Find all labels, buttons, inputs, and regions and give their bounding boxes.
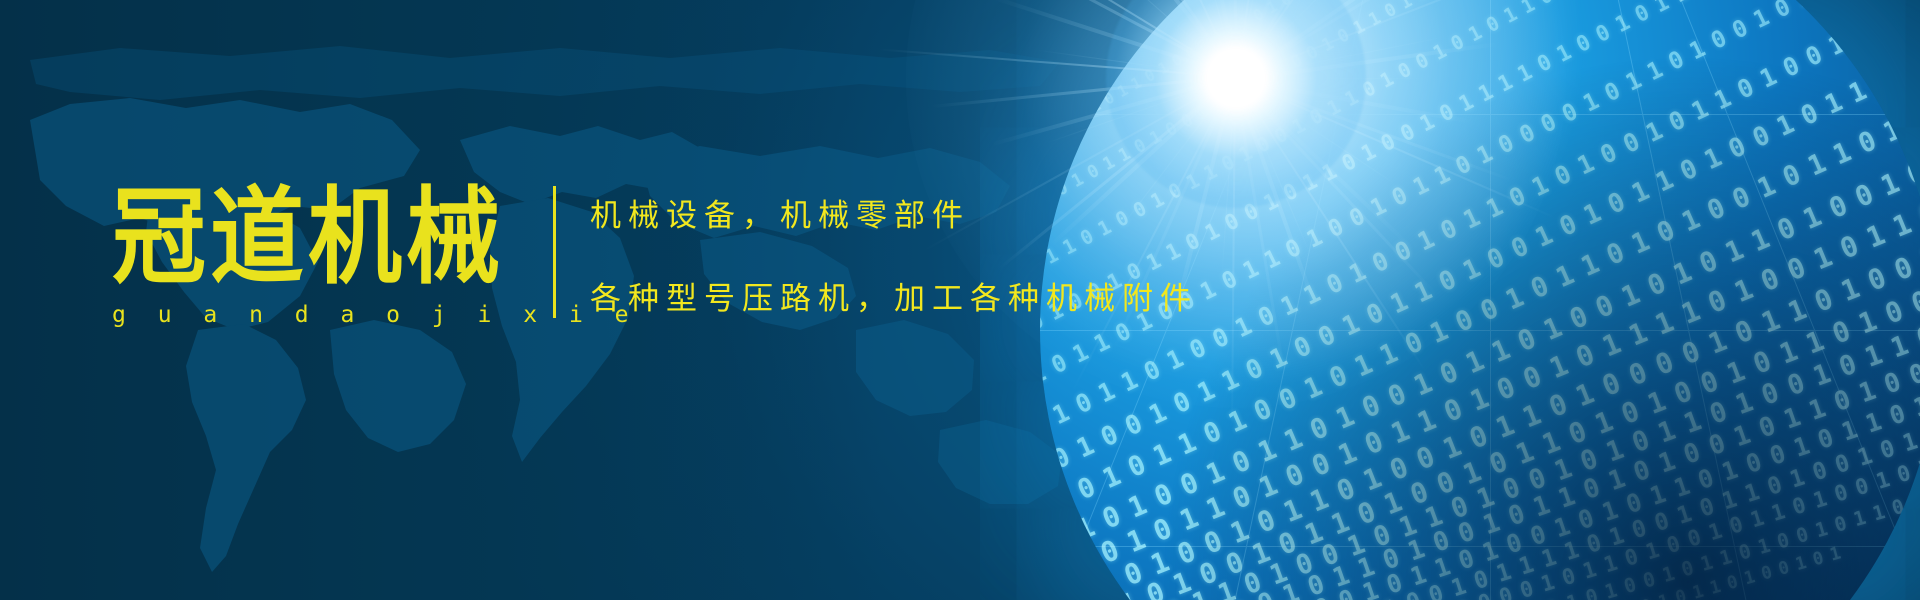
logo-block: 冠道机械 g u a n d a o j i x i e	[112, 186, 522, 328]
company-name-cn: 冠道机械	[112, 186, 522, 291]
company-name-pinyin: g u a n d a o j i x i e	[112, 302, 522, 328]
vertical-divider	[553, 186, 556, 318]
slogan-line-1: 机械设备，机械零部件	[590, 190, 1198, 235]
slogan-list: 机械设备，机械零部件 各种型号压路机，加工各种机械附件	[590, 190, 1198, 318]
banner-content: 冠道机械 g u a n d a o j i x i e 机械设备，机械零部件 …	[0, 0, 1920, 600]
hero-banner: 1001011010010110100101101010010110100101…	[0, 0, 1920, 600]
slogan-line-2: 各种型号压路机，加工各种机械附件	[590, 273, 1198, 318]
